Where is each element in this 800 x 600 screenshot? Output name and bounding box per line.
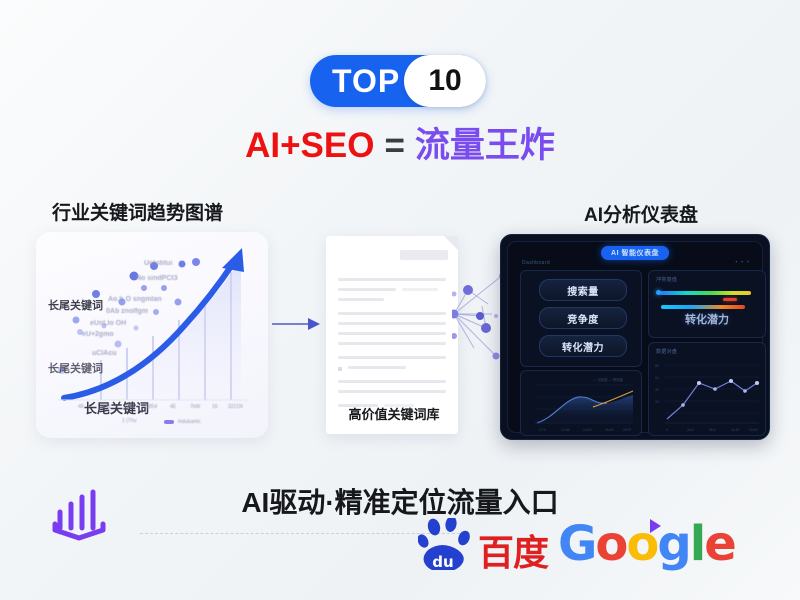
line-tick-5: 23:19 bbox=[749, 428, 758, 432]
svg-text:20: 20 bbox=[655, 400, 659, 404]
google-letter-e: e bbox=[704, 516, 735, 572]
headline-equals: = bbox=[384, 126, 404, 165]
google-logo: Google bbox=[558, 521, 735, 567]
top-rank-badge: TOP 10 bbox=[310, 55, 486, 107]
svg-text:64: 64 bbox=[655, 376, 659, 380]
ai-dashboard-panel: AI 智能仪表盘 Dashboard • • • 搜索量 竞争度 转化潜力 bbox=[500, 234, 770, 440]
doc-line bbox=[348, 366, 406, 369]
x-tick-2: 1141 bbox=[100, 404, 111, 410]
doc-line bbox=[338, 342, 446, 345]
line-tick-4: 11:24 bbox=[731, 428, 739, 432]
top-badge-word: TOP bbox=[332, 65, 400, 97]
x-tick-6: 7bW bbox=[190, 404, 200, 410]
play-triangle-icon bbox=[650, 519, 661, 533]
google-letter-g1: G bbox=[558, 516, 595, 572]
area-tick-3: 14:00 bbox=[583, 428, 592, 432]
metric-pill-label: 搜索量 bbox=[567, 283, 599, 298]
doc-header-block bbox=[400, 250, 448, 260]
line-chart-panel: 数据对盘 0 bbox=[648, 342, 766, 436]
google-letter-o1: o bbox=[595, 516, 626, 572]
blurred-term-5: eUoLIo OH bbox=[90, 320, 126, 327]
doc-line bbox=[338, 288, 396, 291]
bar-chart-icon bbox=[48, 484, 110, 544]
gauge-bar-1 bbox=[659, 291, 751, 295]
gauge-label: 转化潜力 bbox=[649, 311, 765, 327]
search-engine-logos: du 百度 Google bbox=[418, 518, 735, 570]
gauge-panel: 冲突趋值 转化潜力 bbox=[648, 270, 766, 338]
gauge-start-dot-icon bbox=[656, 290, 661, 295]
line-tick-3: 06:4 bbox=[709, 428, 716, 432]
area-legend: — 当前值 — 预测值 bbox=[593, 377, 624, 382]
page-fold-corner bbox=[444, 236, 458, 250]
footer-slogan: AI驱动·精准定位流量入口 bbox=[0, 481, 800, 521]
longtail-label-2: 长尾关键词 bbox=[48, 360, 103, 376]
x-tick-7: 16 bbox=[212, 404, 218, 410]
blurred-term-6: eU+2gmo bbox=[82, 331, 114, 338]
area-chart-panel: 17:0 12:36 14:00 16:00 19:07 — 当前值 — 预测值 bbox=[520, 370, 642, 436]
headline-ai-seo: AI+SEO bbox=[245, 126, 374, 165]
headline-traffic: 流量王炸 bbox=[415, 126, 555, 165]
top-badge-number: 10 bbox=[428, 66, 461, 96]
area-chart-graphic: 17:0 12:36 14:00 16:00 19:07 — 当前值 — 预测值 bbox=[521, 371, 641, 435]
blurred-term-4: 0Ab znolfgm bbox=[106, 308, 148, 315]
metric-pill-label: 转化潜力 bbox=[562, 339, 604, 354]
metric-pill-search-volume[interactable]: 搜索量 bbox=[539, 279, 627, 301]
svg-text:86: 86 bbox=[655, 364, 659, 368]
x-tick-1: 48 bbox=[78, 404, 84, 410]
metric-pill-label: 竞争度 bbox=[567, 311, 599, 326]
dashboard-subtitle: Dashboard bbox=[522, 260, 550, 266]
gauge-panel-caption: 冲突趋值 bbox=[656, 276, 677, 283]
flow-arrow-right-icon bbox=[272, 316, 322, 332]
doc-line bbox=[338, 278, 446, 281]
doc-line bbox=[338, 312, 446, 315]
gauge-bar-2 bbox=[661, 305, 745, 309]
left-section-caption: 行业关键词趋势图谱 bbox=[52, 198, 223, 225]
baidu-paw-icon: du bbox=[418, 518, 476, 570]
longtail-label-1: 长尾关键词 bbox=[48, 297, 103, 313]
axis-note: 1 (Thu bbox=[122, 418, 136, 424]
metric-pill-competition[interactable]: 竞争度 bbox=[539, 307, 627, 329]
doc-line bbox=[338, 332, 446, 335]
gauge-threshold-marker bbox=[723, 298, 737, 301]
blurred-term-2: No sindPCt3 bbox=[136, 275, 178, 282]
keyword-trend-card: 长尾关键词 长尾关键词 长尾关键词 Uctobtui No sindPCt3 A… bbox=[36, 232, 268, 438]
blurred-term-7: uClAcu bbox=[92, 350, 117, 357]
line-tick-1: 0 bbox=[666, 428, 668, 432]
document-caption: 高价值关键词库 bbox=[330, 404, 458, 423]
baidu-logo: du 百度 bbox=[418, 518, 548, 570]
blurred-term-1: Uctobtui bbox=[144, 260, 172, 267]
doc-line bbox=[338, 356, 446, 359]
metric-pill-conversion[interactable]: 转化潜力 bbox=[539, 335, 627, 357]
dashboard-menu-icon[interactable]: • • • bbox=[735, 260, 750, 266]
blurred-term-3: Ao,b O sngmlan bbox=[108, 296, 162, 303]
doc-bullet bbox=[338, 367, 342, 371]
line-chart-graphic: 0 34:2 06:4 11:24 23:19 86 64 42 20 bbox=[649, 343, 765, 435]
baidu-du-text: du bbox=[432, 553, 453, 570]
doc-line bbox=[338, 390, 446, 393]
longtail-label-3: 长尾关键词 bbox=[84, 398, 149, 417]
area-tick-2: 12:36 bbox=[561, 428, 570, 432]
dashboard-inner-frame: AI 智能仪表盘 Dashboard • • • 搜索量 竞争度 转化潜力 bbox=[507, 241, 763, 433]
x-tick-5: 4E bbox=[170, 404, 176, 410]
google-letter-l: l bbox=[690, 516, 704, 572]
area-tick-1: 17:0 bbox=[539, 428, 546, 432]
doc-line bbox=[338, 322, 446, 325]
area-tick-5: 19:07 bbox=[623, 428, 632, 432]
dashboard-title-pill: AI 智能仪表盘 bbox=[601, 246, 669, 260]
metric-pill-panel: 搜索量 竞争度 转化潜力 bbox=[520, 270, 642, 367]
doc-line bbox=[402, 288, 438, 291]
doc-line bbox=[338, 298, 384, 301]
top-badge-number-circle: 10 bbox=[404, 55, 486, 107]
x-tick-3: 22LC bbox=[124, 404, 136, 410]
google-letter-g2: g bbox=[657, 516, 689, 572]
area-tick-4: 16:00 bbox=[605, 428, 614, 432]
svg-text:42: 42 bbox=[655, 388, 659, 392]
baidu-wordmark: 百度 bbox=[478, 536, 548, 570]
x-tick-4: 1854 bbox=[146, 404, 157, 410]
page-title: AI+SEO=流量王炸 bbox=[0, 128, 800, 163]
right-section-caption: AI分析仪表盘 bbox=[584, 200, 698, 227]
doc-line bbox=[338, 380, 446, 383]
chart-legend-label: Indukamic bbox=[178, 419, 201, 425]
slide-canvas: TOP 10 AI+SEO=流量王炸 行业关键词趋势图谱 AI分析仪表盘 bbox=[0, 0, 800, 600]
line-tick-2: 34:2 bbox=[687, 428, 694, 432]
x-tick-8: 3221N bbox=[228, 404, 243, 410]
